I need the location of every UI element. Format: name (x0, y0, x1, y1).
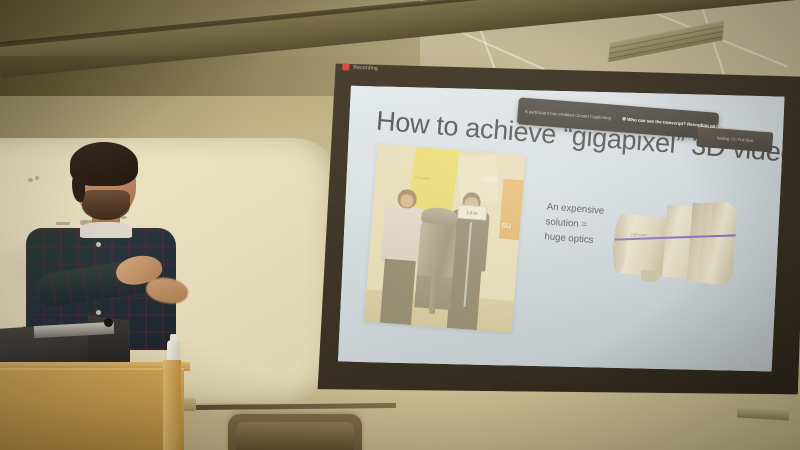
photo-orange-banner: SU (498, 179, 525, 241)
laptop-hinge (104, 318, 113, 327)
settings-chip-label: Setting: CC Full Size (717, 136, 754, 144)
presentation-slide: POSTER SU (338, 80, 785, 379)
bottle-cap[interactable] (170, 334, 177, 342)
presenter-collar (80, 222, 132, 238)
lecture-hall-scene: Recording POSTER SU (0, 0, 800, 450)
record-dot-icon (342, 63, 349, 70)
3d-lens-barrel-render: 220 mm (610, 192, 743, 292)
screen-surface: POSTER SU (338, 80, 785, 379)
lectern (0, 368, 184, 450)
recording-label: Recording (353, 64, 378, 71)
photo-banner-accent: SU (501, 223, 511, 231)
slide-page-number: 1 (750, 360, 753, 366)
projection-screen: Recording POSTER SU (316, 57, 800, 410)
caption-line-3: huge optics (544, 230, 603, 249)
lens-dimension-label: 220 mm (630, 233, 647, 238)
recording-indicator: Recording (342, 63, 378, 71)
slide-caption: An expensive solution = huge optics (544, 200, 605, 249)
measurement-value: 1.5 m (466, 210, 478, 216)
toast-message: A participant has enabled Closed Caption… (518, 109, 612, 121)
measurement-label-box: 1.5 m (457, 205, 488, 221)
camera-rig-photograph: POSTER SU (364, 144, 526, 333)
